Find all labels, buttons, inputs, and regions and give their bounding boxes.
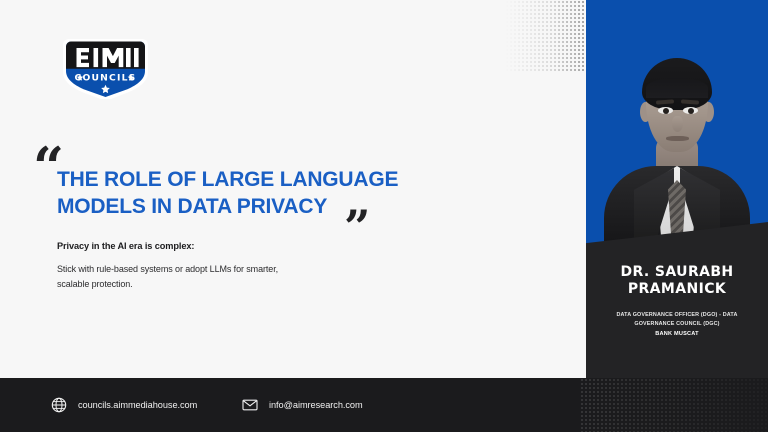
halftone-pattern-footer <box>580 378 768 432</box>
speaker-info-card: DR. SAURABH PRAMANICK DATA GOVERNANCE OF… <box>586 246 768 378</box>
speaker-name-line-1: DR. SAURABH <box>594 264 760 281</box>
speaker-name: DR. SAURABH PRAMANICK <box>594 264 760 298</box>
headline-line-1: THE ROLE OF LARGE LANGUAGE <box>57 168 398 191</box>
body-text: Stick with rule-based systems or adopt L… <box>57 262 307 291</box>
svg-text:COUNCILS: COUNCILS <box>75 73 137 84</box>
body-lead-text: Privacy in the AI era is complex: <box>57 241 387 251</box>
speaker-photo-panel <box>586 0 768 268</box>
footer-email[interactable]: info@aimresearch.com <box>242 397 363 413</box>
footer-website[interactable]: councils.aimmediahouse.com <box>51 397 197 413</box>
footer-website-label: councils.aimmediahouse.com <box>78 400 197 410</box>
speaker-role-line-2: GOVERNANCE COUNCIL (DGC) <box>604 320 750 329</box>
aim-councils-logo: COUNCILS <box>57 37 154 99</box>
footer-bar: councils.aimmediahouse.com info@aimresea… <box>0 378 768 432</box>
slide-canvas: COUNCILS “ THE ROLE OF LARGE LANGUAGE MO… <box>0 0 768 432</box>
footer-email-label: info@aimresearch.com <box>269 400 363 410</box>
speaker-organization: BANK MUSCAT <box>594 331 760 337</box>
body-text-line-1: Stick with rule-based systems or adopt <box>57 264 207 274</box>
envelope-icon <box>242 397 258 413</box>
speaker-name-line-2: PRAMANICK <box>594 281 760 298</box>
globe-icon <box>51 397 67 413</box>
speaker-role-line-1: DATA GOVERNANCE OFFICER (DGO) - DATA <box>604 311 750 320</box>
avatar <box>602 34 752 248</box>
speaker-role: DATA GOVERNANCE OFFICER (DGO) - DATA GOV… <box>594 311 760 329</box>
